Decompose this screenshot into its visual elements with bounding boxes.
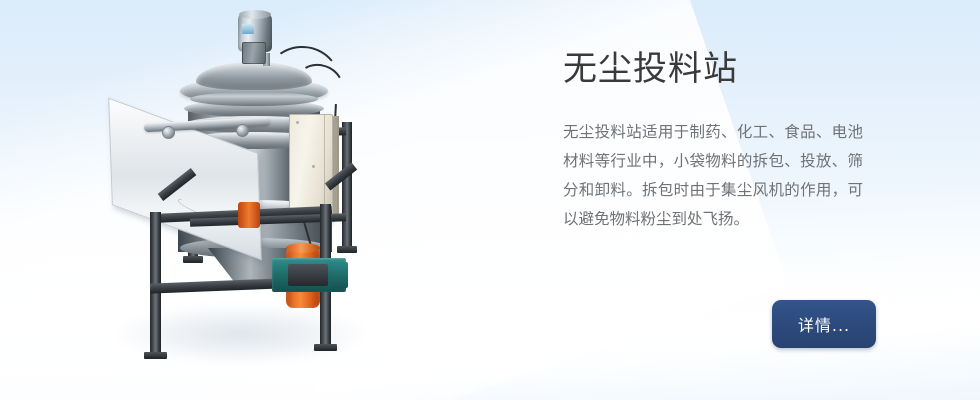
- vibrator-drum-cap: [286, 243, 320, 253]
- vibrator-flange: [332, 262, 348, 288]
- frame-rail-side-right: [325, 162, 357, 190]
- product-description: 无尘投料站适用于制药、化工、食品、电池材料等行业中，小袋物料的拆包、投放、筛分和…: [563, 118, 863, 234]
- banner-content: 无尘投料站 无尘投料站适用于制药、化工、食品、电池材料等行业中，小袋物料的拆包、…: [563, 0, 963, 400]
- product-image: [96, 4, 376, 376]
- vibration-motor-secondary: [238, 202, 260, 228]
- vibration-motor: [272, 242, 360, 314]
- details-button[interactable]: 详情...: [772, 300, 876, 348]
- page-title: 无尘投料站: [563, 48, 738, 90]
- product-banner: 无尘投料站 无尘投料站适用于制药、化工、食品、电池材料等行业中，小袋物料的拆包、…: [0, 0, 980, 400]
- frame-foot-front-right: [314, 344, 337, 351]
- steel-support-frame-front: [96, 4, 376, 376]
- vibrator-bracket-core: [288, 264, 328, 286]
- frame-rail-side-left: [158, 168, 197, 201]
- frame-foot-front-left: [144, 352, 167, 359]
